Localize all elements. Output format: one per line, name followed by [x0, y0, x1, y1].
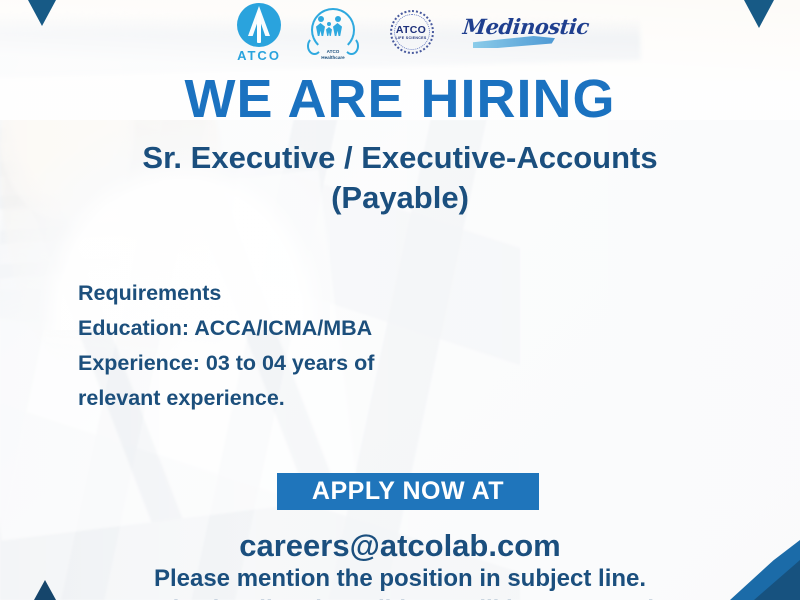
- life-sciences-line1: ATCO: [395, 25, 426, 36]
- medinostic-script-icon: Medinostic: [463, 11, 563, 55]
- medinostic-wordmark: Medinostic: [462, 14, 565, 39]
- job-position-line1: Sr. Executive / Executive-Accounts: [0, 138, 800, 178]
- requirements-experience-line2: relevant experience.: [78, 381, 558, 416]
- atco-arrow-icon: [237, 3, 281, 47]
- cut-off-note: Only shortlisted candidates will be cont…: [0, 596, 800, 600]
- subject-line-note: Please mention the position in subject l…: [0, 565, 800, 593]
- requirements-heading: Requirements: [78, 276, 558, 311]
- atco-life-sciences-logo: ATCO LIFE SCIENCES: [385, 9, 437, 57]
- job-position-title: Sr. Executive / Executive-Accounts (Paya…: [0, 138, 800, 217]
- application-email[interactable]: careers@atcolab.com: [0, 528, 800, 564]
- logo-strip: ATCO ATCO Healthcare: [0, 2, 800, 64]
- medinostic-logo: Medinostic: [463, 11, 563, 55]
- page-title: WE ARE HIRING: [0, 72, 800, 126]
- apply-now-banner: APPLY NOW AT: [277, 473, 539, 510]
- requirements-experience-line1: Experience: 03 to 04 years of: [78, 346, 558, 381]
- apply-now-label: APPLY NOW AT: [312, 477, 504, 506]
- hiring-poster: ATCO ATCO Healthcare: [0, 0, 800, 600]
- atco-logo: ATCO: [237, 3, 281, 63]
- atco-wordmark: ATCO: [237, 48, 281, 63]
- requirements-education: Education: ACCA/ICMA/MBA: [78, 311, 558, 346]
- dotted-circle-icon: ATCO LIFE SCIENCES: [385, 9, 437, 57]
- requirements-block: Requirements Education: ACCA/ICMA/MBA Ex…: [78, 276, 558, 416]
- job-position-line2: (Payable): [0, 178, 800, 218]
- life-sciences-line2: LIFE SCIENCES: [395, 37, 426, 41]
- family-in-circle-icon: ATCO Healthcare: [307, 7, 359, 59]
- atco-healthcare-line2: Healthcare: [307, 55, 359, 60]
- atco-healthcare-logo: ATCO Healthcare: [307, 7, 359, 59]
